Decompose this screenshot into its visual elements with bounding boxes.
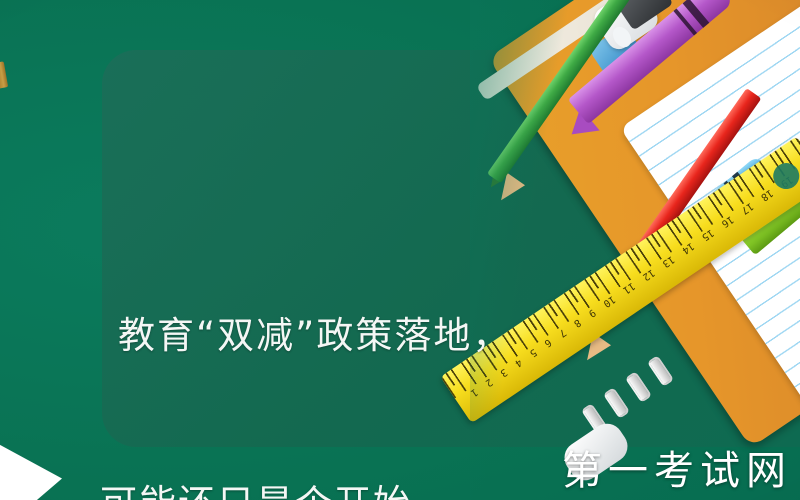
- site-watermark: 第一考试网: [562, 448, 792, 494]
- page-title: 教育“双减”政策落地， 可能还只是个开始: [118, 196, 618, 500]
- page-title-line-1: 教育“双减”政策落地，: [118, 308, 618, 364]
- poster-canvas: 2019181716151413121110987654321 教育“双减”政策…: [0, 0, 800, 500]
- page-title-line-2: 可能还只是个开始: [100, 476, 618, 500]
